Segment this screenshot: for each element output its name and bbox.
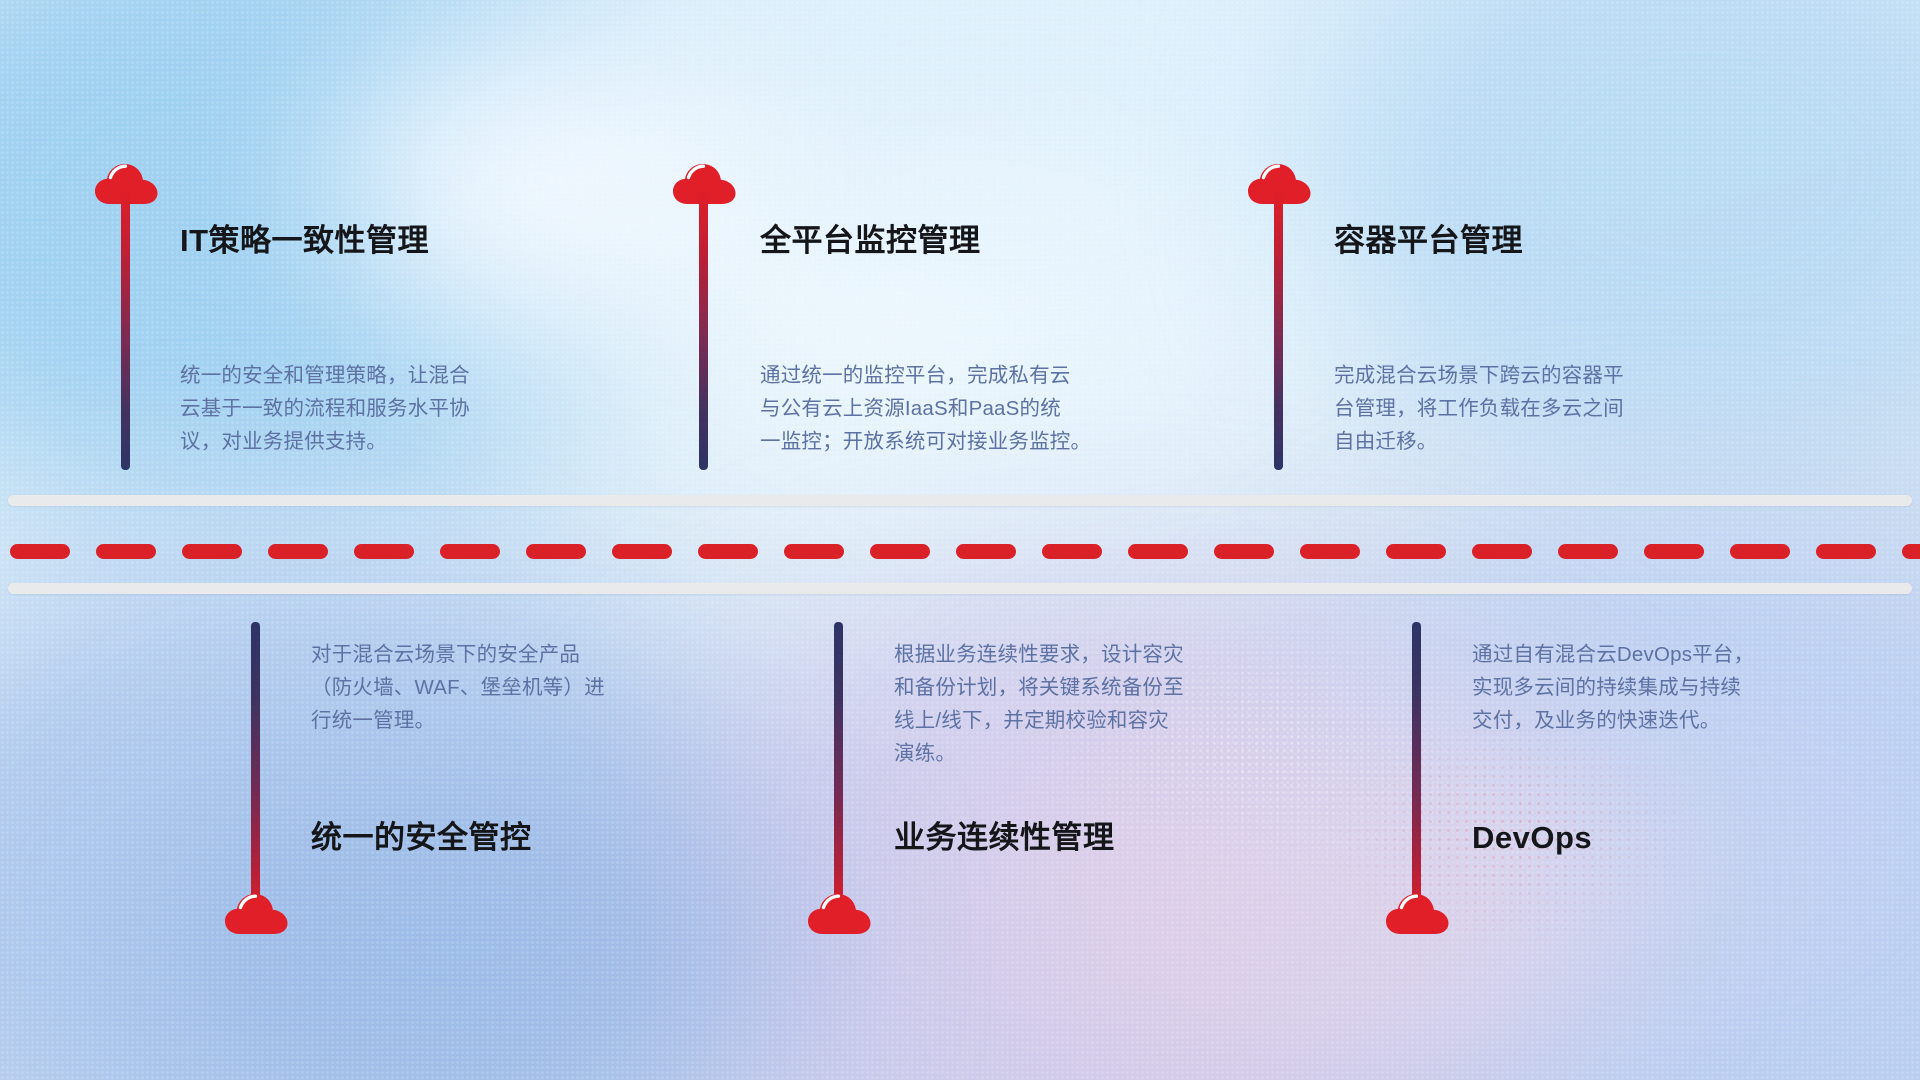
divider-dashed-line: [0, 543, 1920, 559]
divider-dash: [1300, 544, 1360, 559]
top-item-title: 容器平台管理: [1334, 225, 1523, 256]
divider-dash: [1558, 544, 1618, 559]
top-item-body: 统一的安全和管理策略，让混合 云基于一致的流程和服务水平协 议，对业务提供支持。: [180, 359, 610, 458]
timeline-bar: [699, 190, 708, 470]
top-item-title: 全平台监控管理: [760, 225, 981, 256]
timeline-bar: [1412, 622, 1421, 917]
divider-dash: [1816, 544, 1876, 559]
divider-dash: [96, 544, 156, 559]
divider-line-top: [8, 495, 1912, 506]
top-item-title: IT策略一致性管理: [180, 225, 429, 256]
divider-dash: [1386, 544, 1446, 559]
top-item-body: 完成混合云场景下跨云的容器平 台管理，将工作负载在多云之间 自由迁移。: [1334, 359, 1764, 458]
divider-dash: [1730, 544, 1790, 559]
bottom-item-title: DevOps: [1472, 822, 1592, 853]
divider-dash: [1214, 544, 1274, 559]
divider-dash: [1902, 544, 1920, 559]
infographic-canvas: IT策略一致性管理 统一的安全和管理策略，让混合 云基于一致的流程和服务水平协 …: [0, 0, 1920, 1080]
divider-dash: [612, 544, 672, 559]
divider-dash: [870, 544, 930, 559]
timeline-bar: [834, 622, 843, 917]
divider-dash: [440, 544, 500, 559]
divider-dash: [1472, 544, 1532, 559]
timeline-bar: [251, 622, 260, 917]
divider-dash: [1128, 544, 1188, 559]
divider-dash: [1644, 544, 1704, 559]
bottom-item-body: 对于混合云场景下的安全产品 （防火墙、WAF、堡垒机等）进 行统一管理。: [311, 638, 741, 737]
bottom-item-body: 通过自有混合云DevOps平台， 实现多云间的持续集成与持续 交付，及业务的快速…: [1472, 638, 1892, 737]
bottom-item-title: 统一的安全管控: [311, 822, 532, 853]
divider-dash: [956, 544, 1016, 559]
cloud-icon: [807, 890, 875, 938]
divider-line-bottom: [8, 583, 1912, 594]
top-item-body: 通过统一的监控平台，完成私有云 与公有云上资源IaaS和PaaS的统 一监控；开…: [760, 359, 1210, 458]
divider-dash: [354, 544, 414, 559]
divider-dash: [698, 544, 758, 559]
divider-dash: [526, 544, 586, 559]
cloud-icon: [224, 890, 292, 938]
divider-dash: [1042, 544, 1102, 559]
divider-dash: [182, 544, 242, 559]
divider-dash: [784, 544, 844, 559]
bottom-item-title: 业务连续性管理: [894, 822, 1115, 853]
timeline-bar: [121, 190, 130, 470]
divider-dash: [268, 544, 328, 559]
cloud-icon: [1385, 890, 1453, 938]
timeline-bar: [1274, 190, 1283, 470]
divider-dash: [10, 544, 70, 559]
bottom-item-body: 根据业务连续性要求，设计容灾 和备份计划，将关键系统备份至 线上/线下，并定期校…: [894, 638, 1334, 770]
